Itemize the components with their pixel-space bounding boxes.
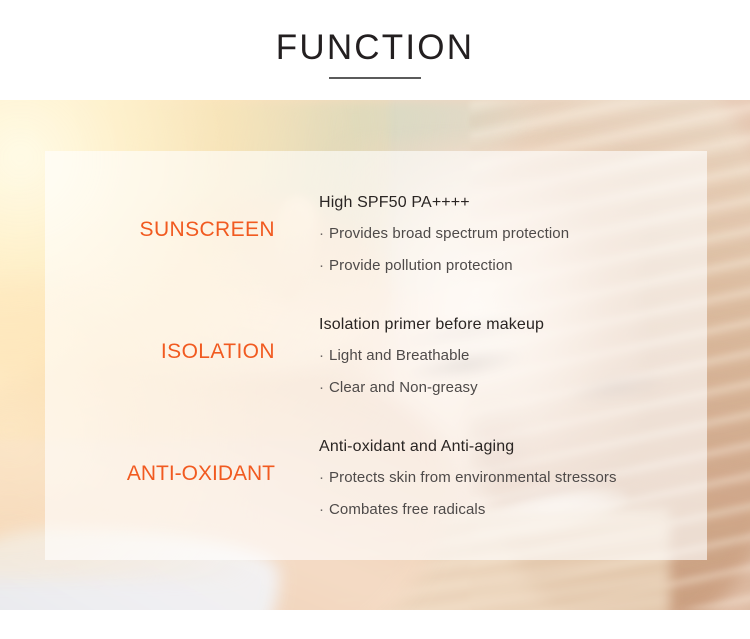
feature-bullets-isolation: ·Light and Breathable ·Clear and Non-gre… xyxy=(319,340,719,404)
list-item: ·Provides broad spectrum protection xyxy=(319,218,719,250)
feature-body-sunscreen: High SPF50 PA++++ ·Provides broad spectr… xyxy=(319,188,719,282)
feature-body-anti-oxidant: Anti-oxidant and Anti-aging ·Protects sk… xyxy=(319,432,719,526)
bullet-dot-icon: · xyxy=(319,250,329,282)
bullet-dot-icon: · xyxy=(319,494,329,526)
list-item: ·Clear and Non-greasy xyxy=(319,372,719,404)
list-item-text: Clear and Non-greasy xyxy=(329,379,478,396)
feature-heading-anti-oxidant: Anti-oxidant and Anti-aging xyxy=(319,432,719,462)
feature-heading-isolation: Isolation primer before makeup xyxy=(319,310,719,340)
feature-label-anti-oxidant: ANTI-OXIDANT xyxy=(60,462,275,486)
list-item: ·Light and Breathable xyxy=(319,340,719,372)
bullet-dot-icon: · xyxy=(319,218,329,250)
list-item: ·Combates free radicals xyxy=(319,494,719,526)
bullet-dot-icon: · xyxy=(319,340,329,372)
feature-bullets-anti-oxidant: ·Protects skin from environmental stress… xyxy=(319,462,719,526)
list-item-text: Protects skin from environmental stresso… xyxy=(329,469,617,486)
title-divider xyxy=(329,77,421,79)
page-title: FUNCTION xyxy=(0,28,750,68)
feature-body-isolation: Isolation primer before makeup ·Light an… xyxy=(319,310,719,404)
feature-list: SUNSCREEN High SPF50 PA++++ ·Provides br… xyxy=(0,100,750,610)
feature-heading-sunscreen: High SPF50 PA++++ xyxy=(319,188,719,218)
banner-header: FUNCTION xyxy=(0,0,750,100)
bullet-dot-icon: · xyxy=(319,462,329,494)
feature-label-sunscreen: SUNSCREEN xyxy=(60,218,275,242)
feature-bullets-sunscreen: ·Provides broad spectrum protection ·Pro… xyxy=(319,218,719,282)
list-item: ·Provide pollution protection xyxy=(319,250,719,282)
list-item-text: Light and Breathable xyxy=(329,347,469,364)
bullet-dot-icon: · xyxy=(319,372,329,404)
list-item-text: Combates free radicals xyxy=(329,501,485,518)
product-function-banner: FUNCTION SUNSCREEN High SPF50 PA++++ xyxy=(0,0,750,639)
list-item: ·Protects skin from environmental stress… xyxy=(319,462,719,494)
list-item-text: Provide pollution protection xyxy=(329,257,513,274)
list-item-text: Provides broad spectrum protection xyxy=(329,225,569,242)
feature-label-isolation: ISOLATION xyxy=(60,340,275,364)
